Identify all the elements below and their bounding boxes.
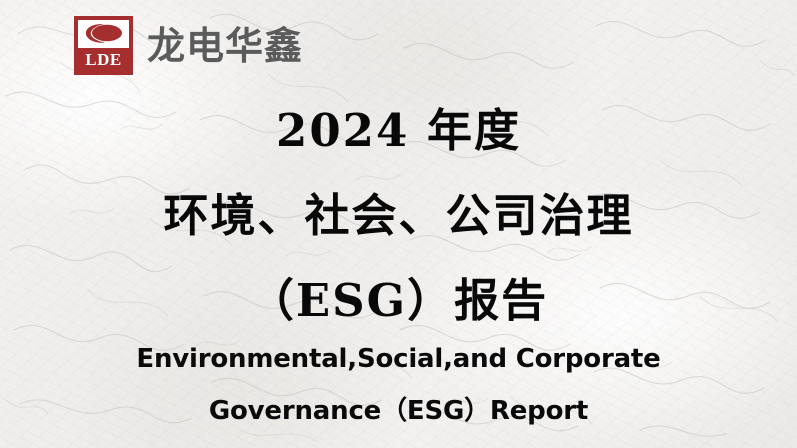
logo-abbreviation: LDE — [78, 48, 129, 71]
report-subtitle: Environmental,Social,and Corporate Gover… — [0, 333, 797, 437]
subtitle-line-2: Governance（ESG）Report — [0, 385, 797, 437]
report-title: 2024 年度 环境、社会、公司治理 （ESG）报告 — [0, 88, 797, 343]
title-line-topic: 环境、社会、公司治理 — [0, 173, 797, 258]
brand-lockup: LDE 龙电华鑫 — [74, 16, 303, 75]
title-line-esg-report: （ESG）报告 — [0, 258, 797, 343]
report-cover-page: LDE 龙电华鑫 2024 年度 环境、社会、公司治理 （ESG）报告 Envi… — [0, 0, 797, 448]
ellipse-swoosh-icon — [78, 20, 129, 48]
company-logo: LDE — [74, 16, 133, 75]
subtitle-line-1: Environmental,Social,and Corporate — [0, 333, 797, 385]
title-line-year: 2024 年度 — [0, 88, 797, 173]
logo-mark-window — [78, 20, 129, 48]
company-name: 龙电华鑫 — [147, 27, 303, 65]
